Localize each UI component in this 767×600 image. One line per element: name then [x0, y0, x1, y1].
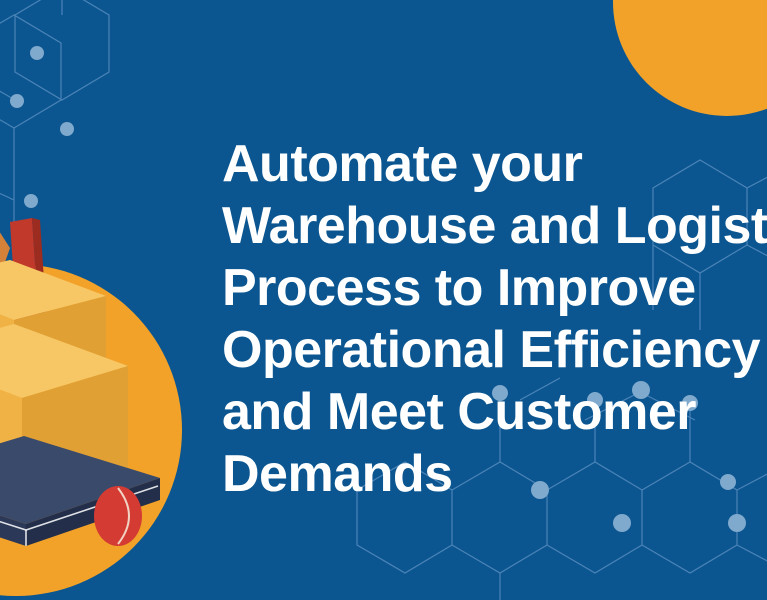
warehouse-hand-truck-illustration [0, 186, 244, 600]
marketing-banner: Automate your Warehouse and Logistics Pr… [0, 0, 767, 600]
banner-headline: Automate your Warehouse and Logistics Pr… [222, 133, 767, 505]
